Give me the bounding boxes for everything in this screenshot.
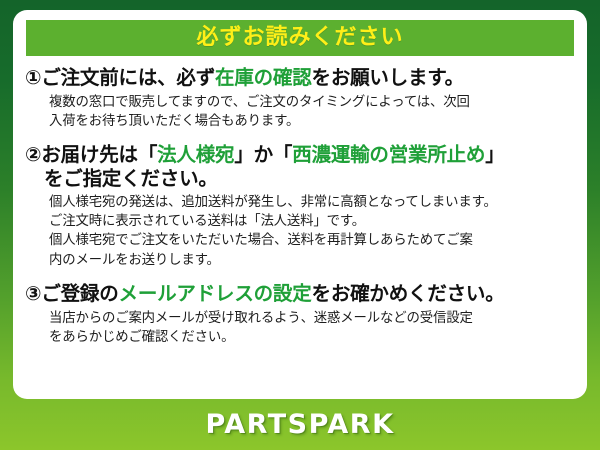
notice-item-3-number: ③ [25,282,41,305]
notice-card: 必ずお読みください ①ご注文前には、必ず在庫の確認をお願いします。 複数の窓口で… [13,10,587,399]
notice-item-2-detail-line-4: 内のメールをお送りします。 [49,251,577,270]
notice-item-2-detail-line-1: 個人様宅宛の発送は、追加送料が発生し、非常に高額となってしまいます。 [49,193,577,212]
notice-item-1-number: ① [25,66,41,89]
notice-list: ①ご注文前には、必ず在庫の確認をお願いします。 複数の窓口で販売してますので、ご… [13,66,587,353]
notice-item-3-heading-part-1: ご登録の [41,282,118,305]
notice-item-2-heading-highlight-1: 法人様宛 [157,143,234,166]
notice-item-3-detail-line-1: 当店からのご案内メールが受け取れるよう、迷惑メールなどの受信設定 [49,309,577,328]
notice-item-3-detail-line-2: をあらかじめご確認ください。 [49,328,577,347]
notice-page: 必ずお読みください ①ご注文前には、必ず在庫の確認をお願いします。 複数の窓口で… [0,0,600,450]
notice-item-2-heading-line-2: をご指定ください。 [25,167,577,191]
notice-item-1-heading: ①ご注文前には、必ず在庫の確認をお願いします。 [25,66,577,90]
notice-item-2-number: ② [25,143,41,166]
banner-title: 必ずお読みください [196,27,403,49]
notice-item-3-heading-part-3: をお確かめください。 [312,282,505,305]
notice-item-2-heading-highlight-2: 西濃運輸の営業所止め [292,143,485,166]
notice-item-3-heading: ③ご登録のメールアドレスの設定をお確かめください。 [25,282,577,306]
footer-brand-bar: PARTSPARK [0,399,600,450]
notice-item-2: ②お届け先は「法人様宛」か「西濃運輸の営業所止め」 をご指定ください。 個人様宅… [25,143,577,270]
notice-item-1-detail-line-1: 複数の窓口で販売してますので、ご注文のタイミングによっては、次回 [49,93,577,112]
notice-item-1: ①ご注文前には、必ず在庫の確認をお願いします。 複数の窓口で販売してますので、ご… [25,66,577,131]
notice-item-2-detail-line-2: ご注文時に表示されている送料は「法人送料」です。 [49,212,577,231]
notice-item-2-heading-part-1: お届け先は「 [41,143,157,166]
notice-item-2-heading: ②お届け先は「法人様宛」か「西濃運輸の営業所止め」 [25,143,577,167]
notice-item-1-detail-line-2: 入荷をお待ち頂いただく場合もあります。 [49,112,577,131]
notice-item-3-detail: 当店からのご案内メールが受け取れるよう、迷惑メールなどの受信設定 をあらかじめご… [25,309,577,347]
brand-logo-text: PARTSPARK [205,411,394,438]
notice-item-1-detail: 複数の窓口で販売してますので、ご注文のタイミングによっては、次回 入荷をお待ち頂… [25,93,577,131]
notice-item-1-heading-part-1: ご注文前には、必ず [41,66,215,89]
notice-item-1-heading-part-3: をお願いします。 [312,66,464,89]
notice-item-2-heading-part-5: 」 [485,143,504,166]
notice-item-1-heading-highlight: 在庫の確認 [215,66,312,89]
notice-item-2-heading-part-3: 」か「 [234,143,292,166]
header-banner: 必ずお読みください [26,20,574,56]
notice-item-3-heading-highlight: メールアドレスの設定 [119,282,312,305]
notice-item-2-detail-line-3: 個人様宅宛でご注文をいただいた場合、送料を再計算しあらためてご案 [49,231,577,250]
notice-item-3: ③ご登録のメールアドレスの設定をお確かめください。 当店からのご案内メールが受け… [25,282,577,348]
notice-item-2-detail: 個人様宅宛の発送は、追加送料が発生し、非常に高額となってしまいます。 ご注文時に… [25,193,577,269]
